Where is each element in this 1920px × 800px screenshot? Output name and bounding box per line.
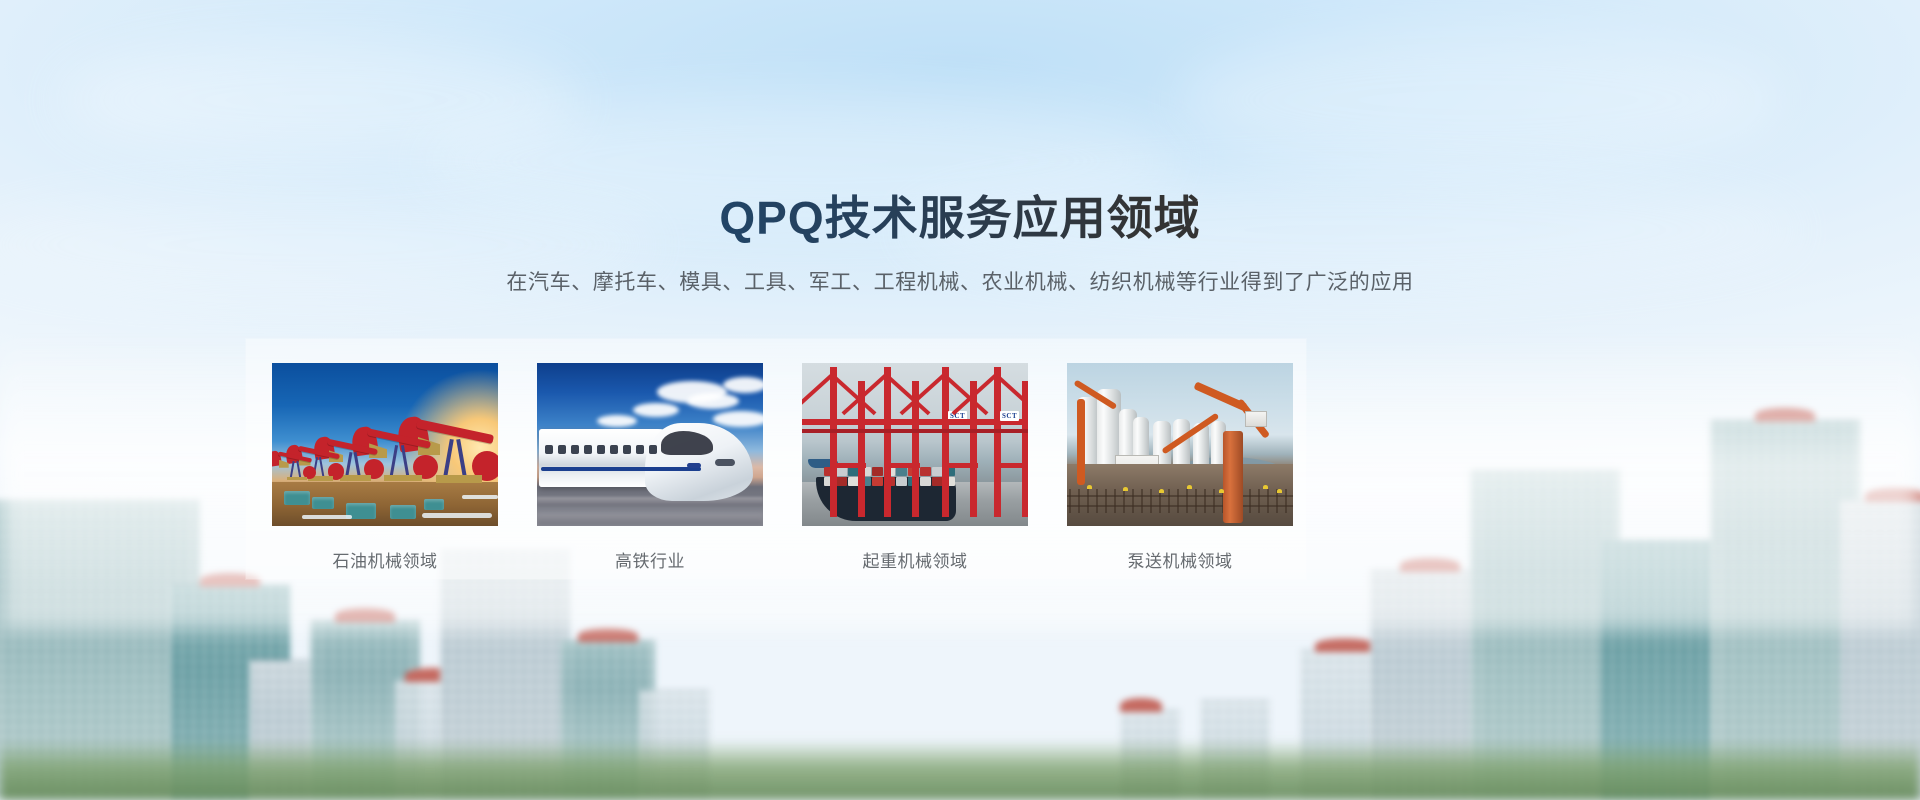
card-crane[interactable]: SCTSCT 起重机械领域 [802,363,1028,572]
application-cards: 石油机械领域 高铁行业 SCTSCT 起重机械领域 泵送机械领域 [246,363,1306,572]
wellhead-valve [312,497,334,509]
tree-line [0,740,1920,800]
worker-helmet [1159,489,1164,493]
wellhead-valve [390,505,416,519]
gantry-crane: SCT [974,367,1028,523]
pumpjack [272,451,314,482]
card-oil[interactable]: 石油机械领域 [272,363,498,572]
worker-helmet [1087,485,1092,489]
port-gantry-cranes-photo[interactable]: SCTSCT [802,363,1028,526]
card-caption: 高铁行业 [537,547,763,572]
oil-pumpjacks-photo[interactable] [272,363,498,526]
high-speed-train-photo[interactable] [537,363,763,526]
card-rail[interactable]: 高铁行业 [537,363,763,572]
worker-helmet [1187,485,1192,489]
worker-helmet [1277,489,1282,493]
card-caption: 泵送机械领域 [1067,547,1293,572]
page-subtitle: 在汽车、摩托车、模具、工具、军工、工程机械、农业机械、纺织机械等行业得到了广泛的… [0,266,1920,296]
wellhead-valve [284,491,310,505]
pump-mast [1223,431,1243,523]
wellhead-valve [424,499,444,510]
worker-helmet [1263,485,1268,489]
worker-helmet [1123,487,1128,491]
page-title: QPQ技术服务应用领域 [0,190,1920,248]
railway-track [537,497,763,506]
concrete-pump-site-photo[interactable] [1067,363,1293,526]
cloud-wisp [1180,30,1780,170]
worker-helmet [1219,489,1224,493]
card-pump[interactable]: 泵送机械领域 [1067,363,1293,572]
operator-cabin [1245,411,1267,427]
card-caption: 石油机械领域 [272,547,498,572]
card-caption: 起重机械领域 [802,547,1028,572]
